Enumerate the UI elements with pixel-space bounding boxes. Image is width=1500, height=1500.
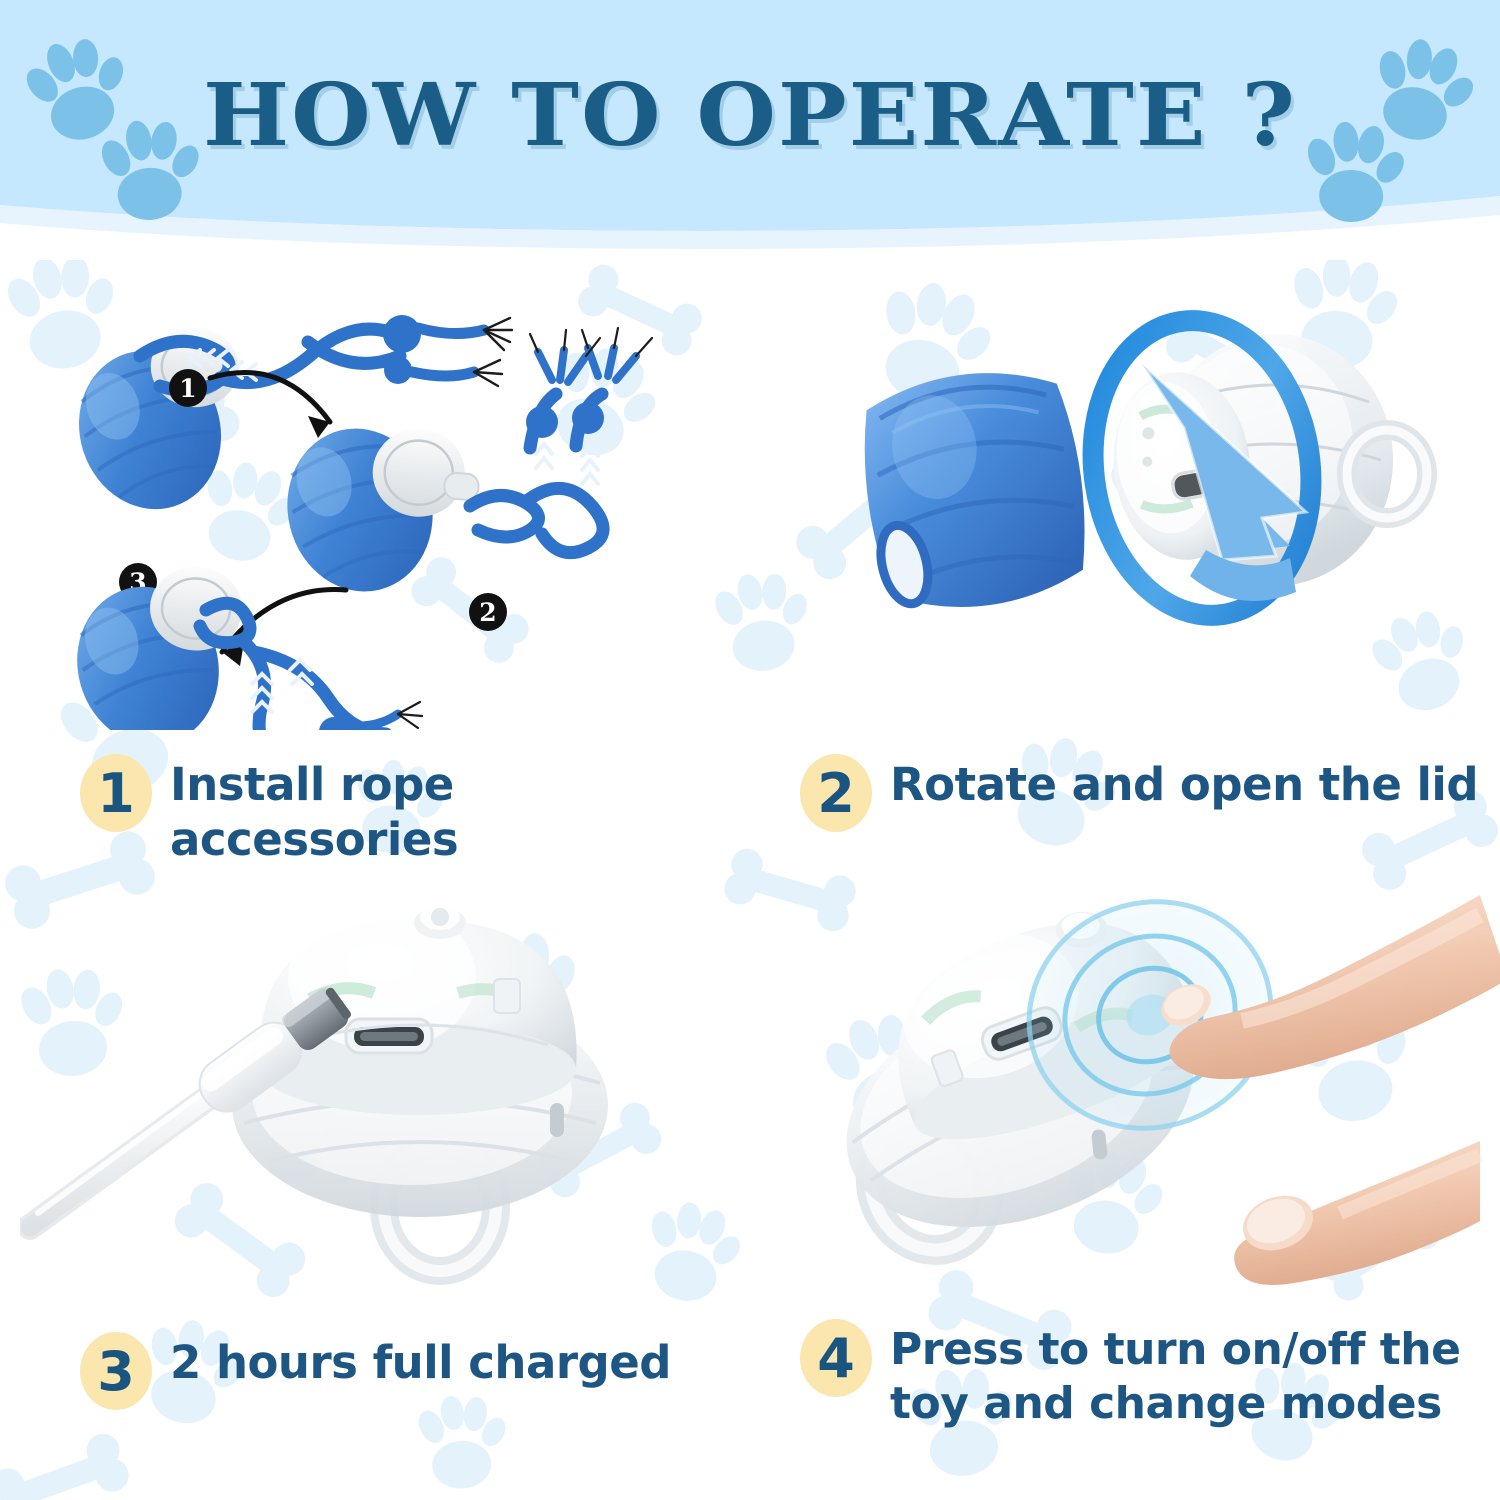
rope-install-diagram: 1 [30,260,750,730]
step-label-3: 2 hours full charged [170,1330,671,1391]
step-number-badge-2: 2 [800,754,872,832]
step-caption-1: 1 Install rope accessories [80,752,740,868]
step-card-2: 2 Rotate and open the lid [770,260,1490,890]
step-card-3: 3 2 hours full charged [20,855,750,1475]
infographic-page: HOW TO OPERATE ? [0,0,1500,1500]
step-caption-4: 4 Press to turn on/off the toy and chang… [800,1317,1490,1430]
diagram-marker-2: 2 [469,593,507,631]
usb-c-charging-illustration [20,855,750,1315]
step-number-badge-3: 3 [80,1332,152,1410]
diagram-marker-1: 1 [169,369,207,407]
step-card-4: 4 Press to turn on/off the toy and chang… [780,855,1500,1475]
steps-grid: 1 [0,215,1500,1500]
step-label-1: Install rope accessories [170,752,740,868]
finger-press-button-illustration [780,855,1500,1315]
svg-text:1: 1 [179,374,196,403]
step-number-badge-1: 1 [80,754,152,832]
step-card-1: 1 [30,260,750,890]
blue-silicone-cover [853,360,1097,620]
step-caption-2: 2 Rotate and open the lid [800,752,1490,832]
step-label-2: Rotate and open the lid [890,752,1478,813]
step-number-badge-4: 4 [800,1319,872,1397]
step-label-4: Press to turn on/off the toy and change … [890,1317,1490,1430]
page-title: HOW TO OPERATE ? [203,65,1297,166]
svg-text:2: 2 [479,598,496,627]
rotate-open-lid-illustration [770,260,1490,730]
step-caption-3: 3 2 hours full charged [80,1330,740,1410]
